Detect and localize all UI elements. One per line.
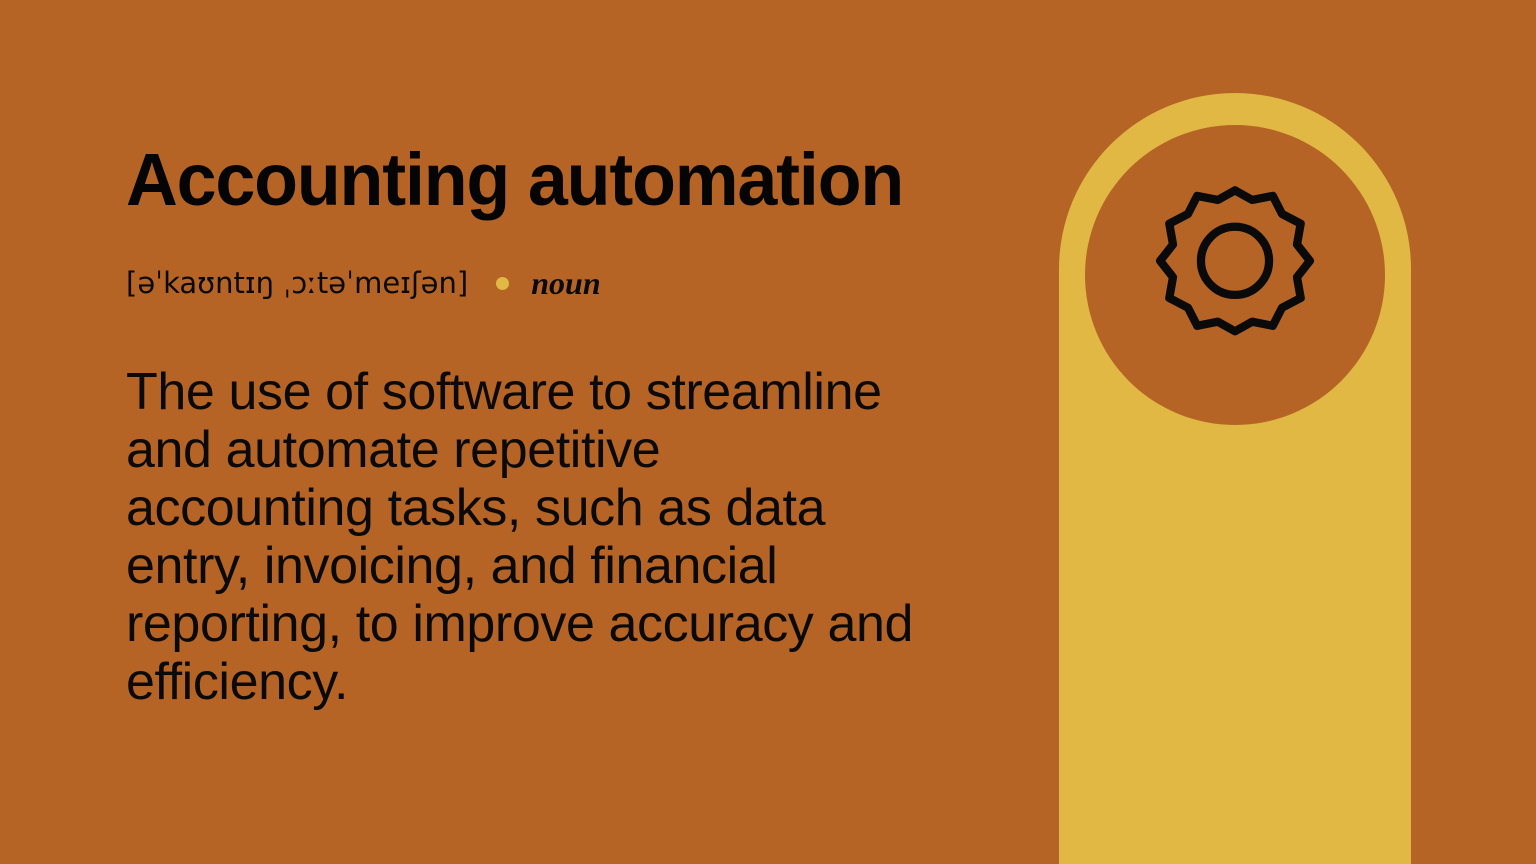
pronunciation-ipa: [əˈkaʊntɪŋ ˌɔːtəˈmeɪʃən] [126, 263, 468, 303]
definition-content: Accounting automation [əˈkaʊntɪŋ ˌɔːtəˈm… [126, 0, 946, 864]
page-title: Accounting automation [126, 138, 903, 222]
pronunciation-row: [əˈkaʊntɪŋ ˌɔːtəˈmeɪʃən] noun [126, 262, 601, 304]
gear-icon-svg [1143, 183, 1327, 367]
gear-icon [1143, 183, 1327, 367]
definition-text: The use of software to streamline and au… [126, 363, 916, 711]
part-of-speech-label: noun [531, 263, 600, 303]
definition-slide: Accounting automation [əˈkaʊntɪŋ ˌɔːtəˈm… [0, 0, 1536, 864]
bullet-dot-icon [496, 277, 509, 290]
